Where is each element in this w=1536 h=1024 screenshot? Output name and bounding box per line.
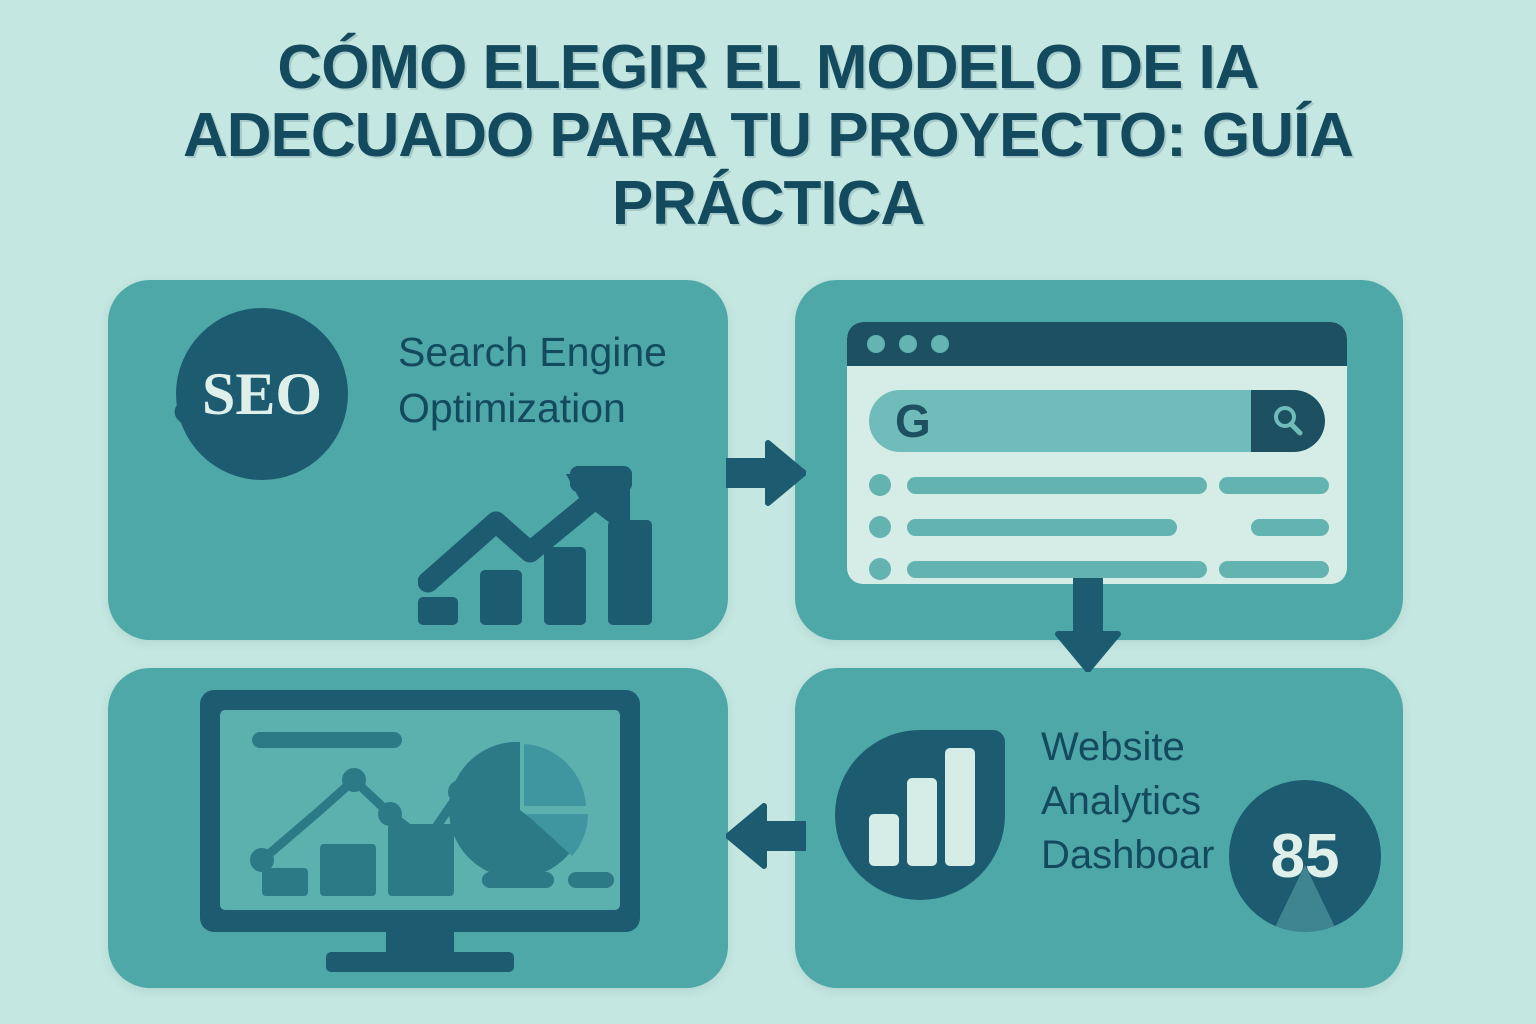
page-title-line-2: ADECUADO PARA TU PROYECTO: GUÍA (118, 102, 1418, 170)
monitor-screen (220, 710, 620, 910)
seo-label-line-1: Search Engine (398, 324, 698, 380)
bullet-icon (869, 516, 891, 538)
result-line-side (1219, 561, 1329, 578)
leaf-bar-3 (945, 748, 975, 866)
search-button[interactable] (1251, 390, 1325, 452)
score-badge-value: 85 (1229, 780, 1381, 932)
page-title-line-1: CÓMO ELEGIR EL MODELO DE IA (118, 34, 1418, 102)
desktop-monitor-icon (200, 690, 640, 972)
bullet-icon (869, 558, 891, 580)
line-chart-point (342, 768, 366, 792)
screen-pill-1 (482, 872, 554, 888)
leaf-bar-2 (907, 778, 937, 866)
growth-chart (418, 460, 708, 625)
score-badge: 85 (1229, 780, 1381, 932)
seo-panel: SEO Search Engine Optimization (108, 280, 728, 640)
screen-bar-1 (262, 868, 308, 896)
arrow-analytics-to-monitor (726, 800, 806, 872)
page-title: CÓMO ELEGIR EL MODELO DE IA ADECUADO PAR… (118, 34, 1418, 238)
seo-label-line-2: Optimization (398, 380, 698, 436)
screen-bar-3 (388, 824, 454, 896)
leaf-bar-1 (869, 814, 899, 866)
seo-label: Search Engine Optimization (398, 324, 698, 436)
result-line-side (1251, 519, 1329, 536)
window-dot-icon[interactable] (899, 335, 917, 353)
result-line-main (907, 477, 1207, 494)
monitor-base (326, 952, 514, 972)
website-analytics-panel: Website Analytics Dashboar 85 (795, 668, 1403, 988)
google-g-logo: G (895, 398, 931, 444)
arrow-browser-to-analytics (1052, 578, 1124, 672)
search-result-row[interactable] (869, 558, 1329, 580)
search-input[interactable]: G (869, 390, 1325, 452)
analytics-monitor-panel (108, 668, 728, 988)
magnifying-glass-icon: SEO (170, 308, 360, 518)
browser-window: G (847, 322, 1347, 584)
screen-bar-2 (320, 844, 376, 896)
search-result-row[interactable] (869, 516, 1329, 538)
arrow-seo-to-browser (726, 437, 806, 509)
analytics-label-line-1: Website (1041, 720, 1321, 774)
result-line-main (907, 561, 1207, 578)
growth-arrow-icon (418, 460, 708, 600)
result-line-main (907, 519, 1177, 536)
line-chart-point (378, 802, 402, 826)
seo-badge-label: SEO (176, 308, 348, 480)
growth-bar-1 (418, 597, 458, 625)
search-results-list (869, 474, 1329, 584)
result-line-side (1219, 477, 1329, 494)
screen-pill-2 (568, 872, 614, 888)
bullet-icon (869, 474, 891, 496)
pie-chart-icon (449, 742, 588, 878)
search-icon (1269, 402, 1307, 440)
window-dot-icon[interactable] (867, 335, 885, 353)
window-dot-icon[interactable] (931, 335, 949, 353)
browser-titlebar (847, 322, 1347, 366)
bar-chart-leaf-icon (835, 730, 1005, 900)
infographic-canvas: CÓMO ELEGIR EL MODELO DE IA ADECUADO PAR… (0, 0, 1536, 1024)
search-result-row[interactable] (869, 474, 1329, 496)
page-title-line-3: PRÁCTICA (118, 170, 1418, 238)
